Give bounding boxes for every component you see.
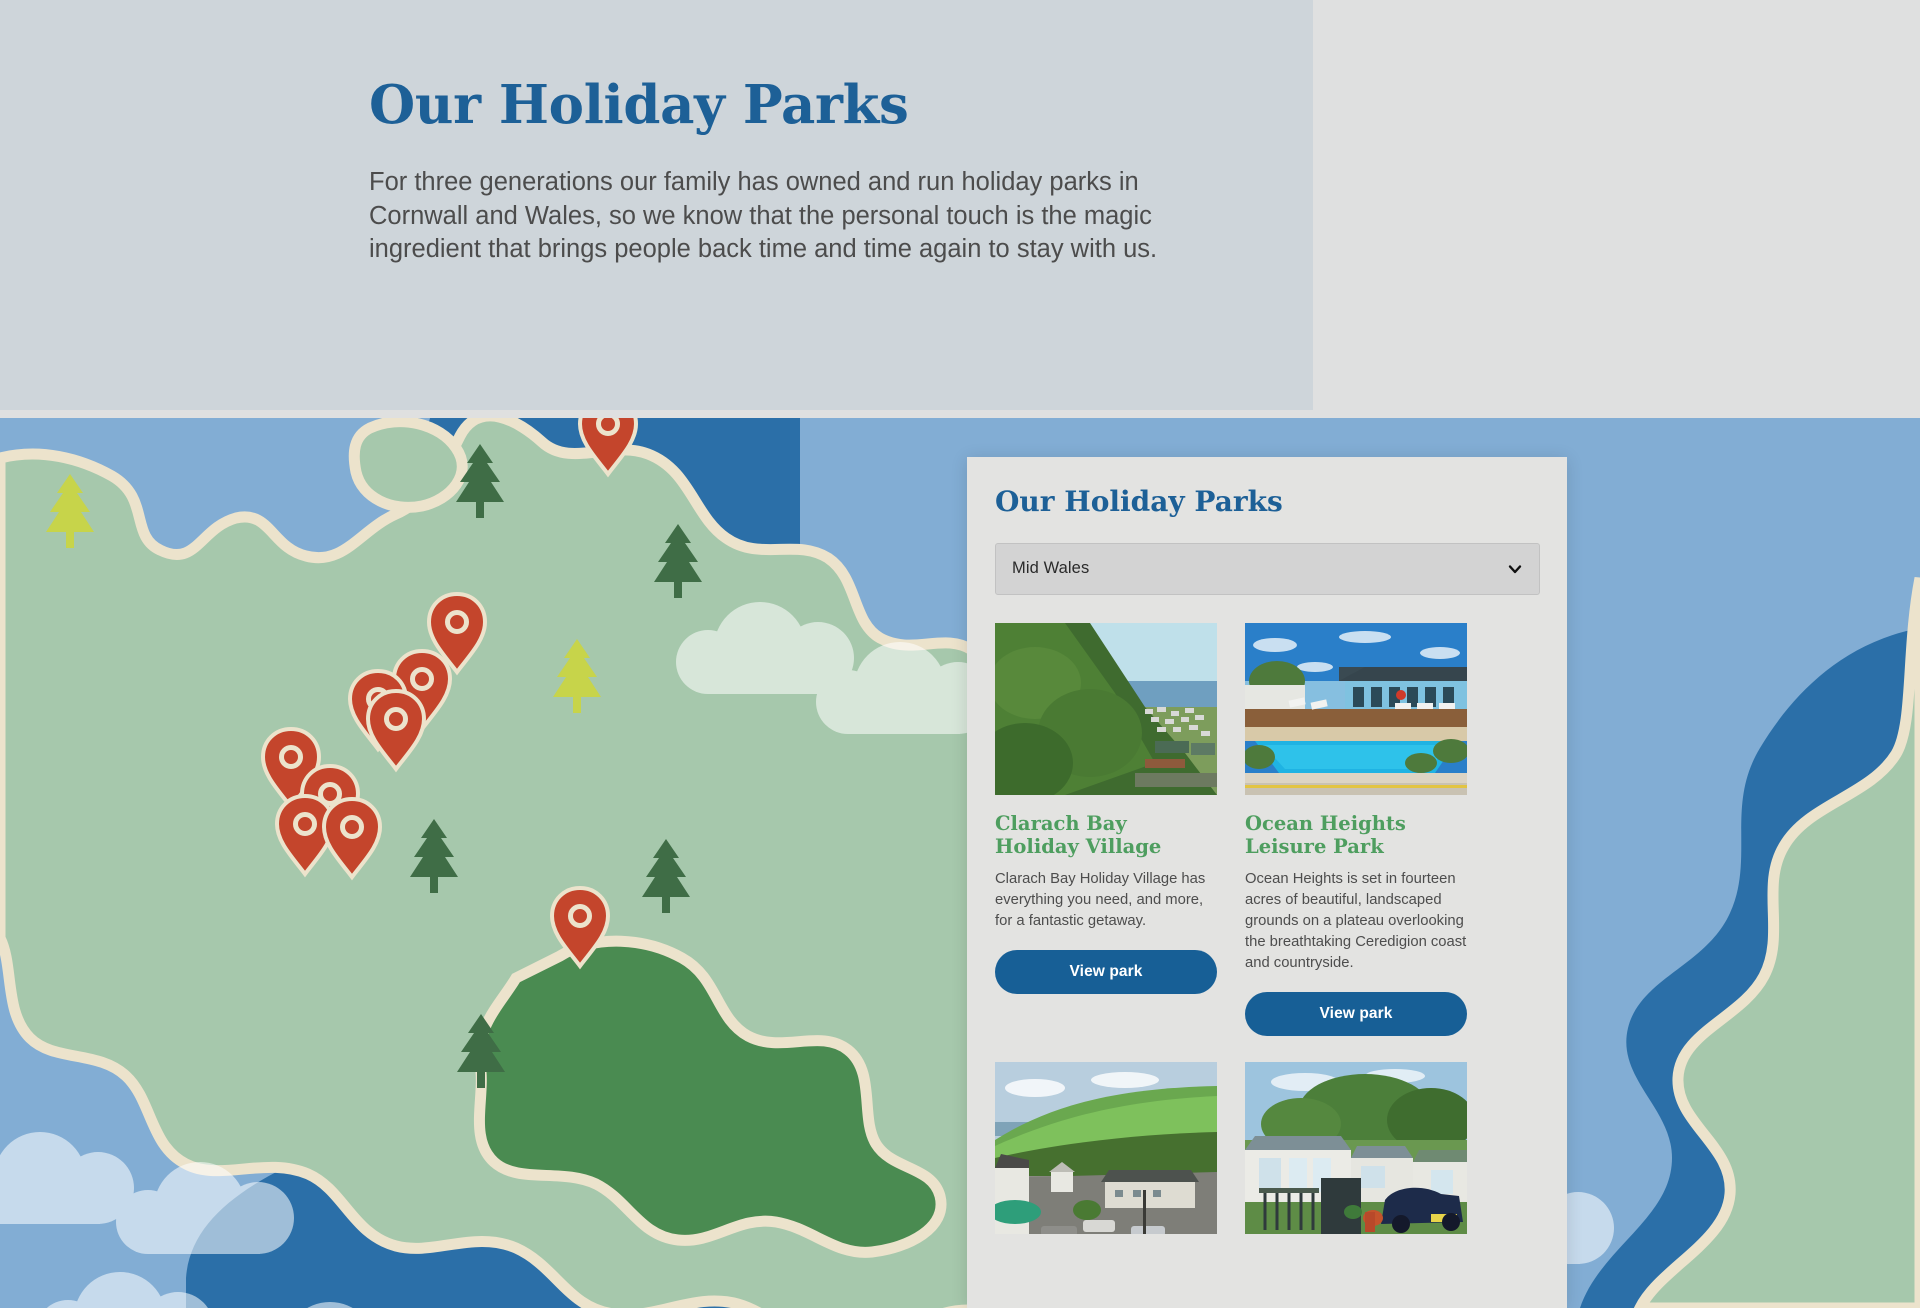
holiday-parks-page: Our Holiday Parks For three generations … — [0, 0, 1920, 1308]
hero-section: Our Holiday Parks For three generations … — [0, 0, 1920, 418]
page-title: Our Holiday Parks — [369, 76, 1209, 134]
park-card-description: Clarach Bay Holiday Village has everythi… — [995, 869, 1217, 932]
holiday-parks-map[interactable] — [0, 418, 1920, 1308]
park-card[interactable] — [995, 1062, 1217, 1251]
park-card-title: Ocean Heights Leisure Park — [1245, 812, 1467, 860]
view-park-button[interactable]: View park — [995, 950, 1217, 994]
holiday-parks-panel: Our Holiday Parks Mid Wales — [967, 457, 1567, 1308]
park-card-description: Ocean Heights is set in fourteen acres o… — [1245, 869, 1467, 974]
park-card-image — [1245, 623, 1467, 795]
hero-content: Our Holiday Parks For three generations … — [369, 76, 1209, 266]
hero-description: For three generations our family has own… — [369, 166, 1209, 266]
panel-title: Our Holiday Parks — [995, 485, 1539, 519]
region-select[interactable]: Mid Wales — [995, 543, 1540, 595]
region-select-value: Mid Wales — [1012, 559, 1089, 578]
view-park-button[interactable]: View park — [1245, 992, 1467, 1036]
park-card[interactable] — [1245, 1062, 1467, 1251]
park-card-image — [995, 1062, 1217, 1234]
map-illustration — [0, 418, 1920, 1308]
park-card[interactable]: Clarach Bay Holiday Village Clarach Bay … — [995, 623, 1217, 1037]
chevron-down-icon — [1507, 561, 1523, 577]
park-card-image — [1245, 1062, 1467, 1234]
park-card-grid: Clarach Bay Holiday Village Clarach Bay … — [995, 623, 1539, 1252]
park-card-title: Clarach Bay Holiday Village — [995, 812, 1217, 860]
park-card-image — [995, 623, 1217, 795]
park-card[interactable]: Ocean Heights Leisure Park Ocean Heights… — [1245, 623, 1467, 1037]
map-land-anglesey — [354, 422, 462, 508]
